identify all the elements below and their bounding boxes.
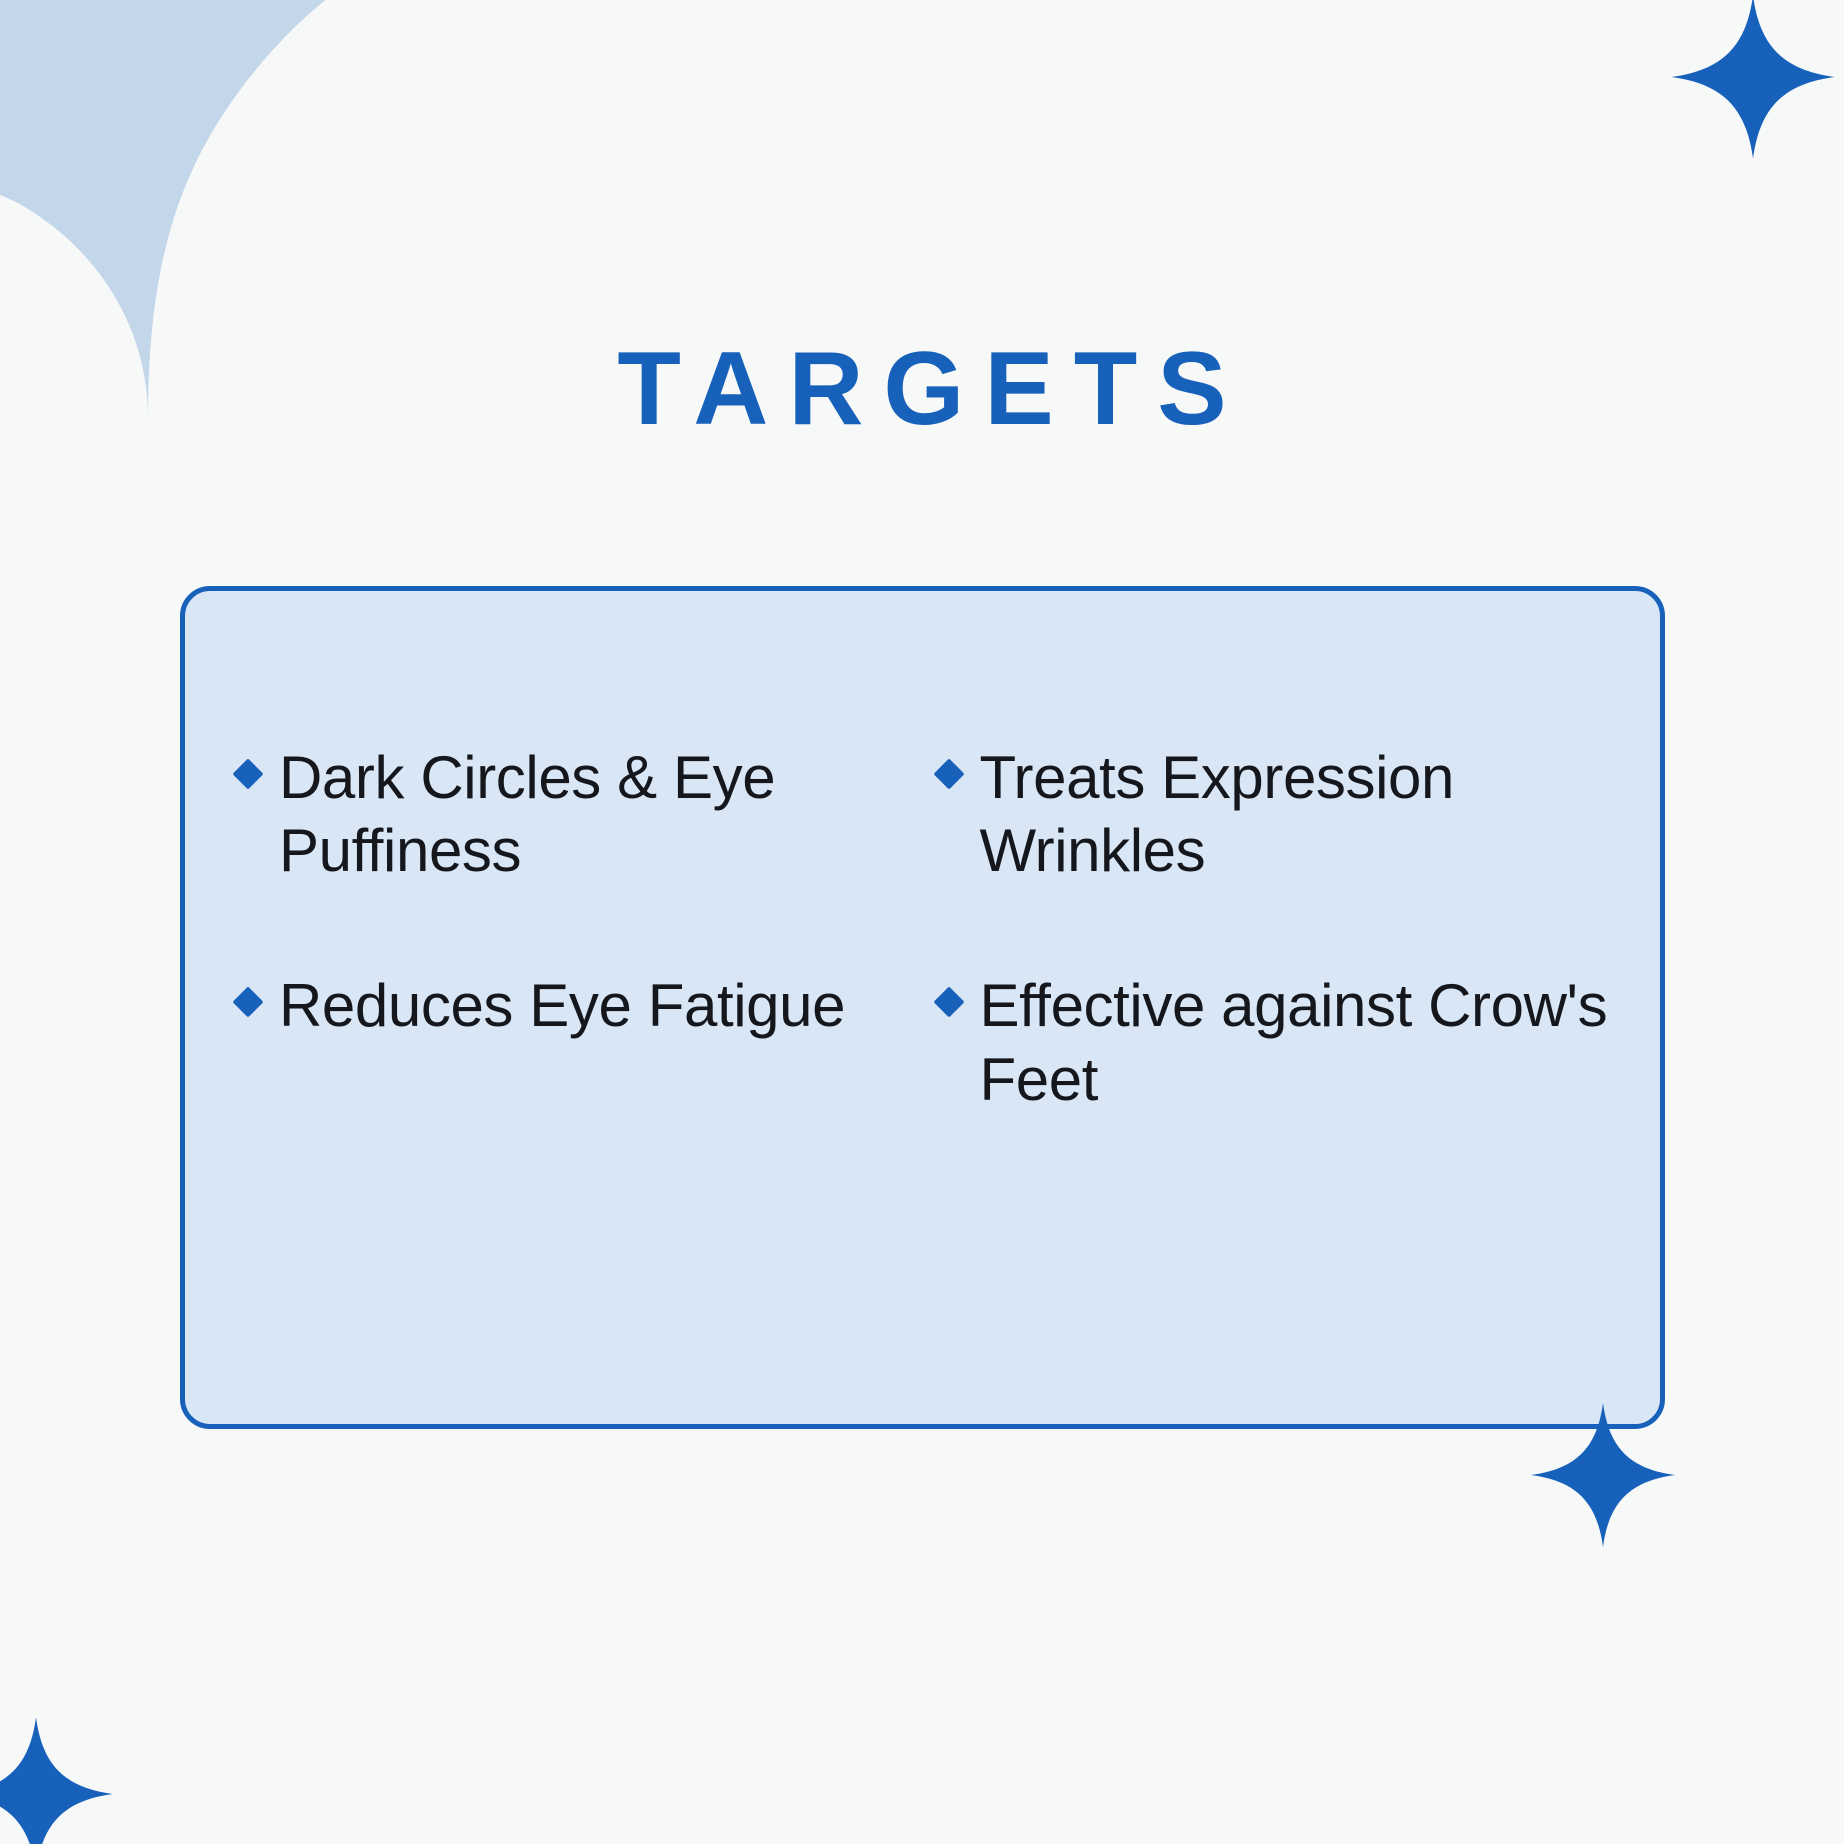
slide-canvas: TARGETS Dark Circles & Eye Puffiness Tre… — [0, 0, 1844, 1844]
targets-list: Dark Circles & Eye Puffiness Treats Expr… — [237, 741, 1620, 1116]
list-item: Reduces Eye Fatigue — [237, 969, 920, 1115]
diamond-bullet-icon — [232, 987, 263, 1018]
diamond-bullet-icon — [933, 987, 964, 1018]
diamond-bullet-icon — [933, 758, 964, 789]
sparkle-icon — [0, 1714, 116, 1844]
page-title: TARGETS — [0, 332, 1844, 446]
list-item: Effective against Crow's Feet — [938, 969, 1621, 1115]
list-item-label: Reduces Eye Fatigue — [279, 969, 845, 1042]
list-item: Treats Expression Wrinkles — [938, 741, 1621, 887]
list-item-label: Dark Circles & Eye Puffiness — [279, 741, 879, 887]
sparkle-icon — [1668, 0, 1838, 162]
list-item: Dark Circles & Eye Puffiness — [237, 741, 920, 887]
list-item-label: Effective against Crow's Feet — [980, 969, 1620, 1115]
list-item-label: Treats Expression Wrinkles — [980, 741, 1620, 887]
diamond-bullet-icon — [232, 758, 263, 789]
targets-card: Dark Circles & Eye Puffiness Treats Expr… — [180, 586, 1665, 1429]
